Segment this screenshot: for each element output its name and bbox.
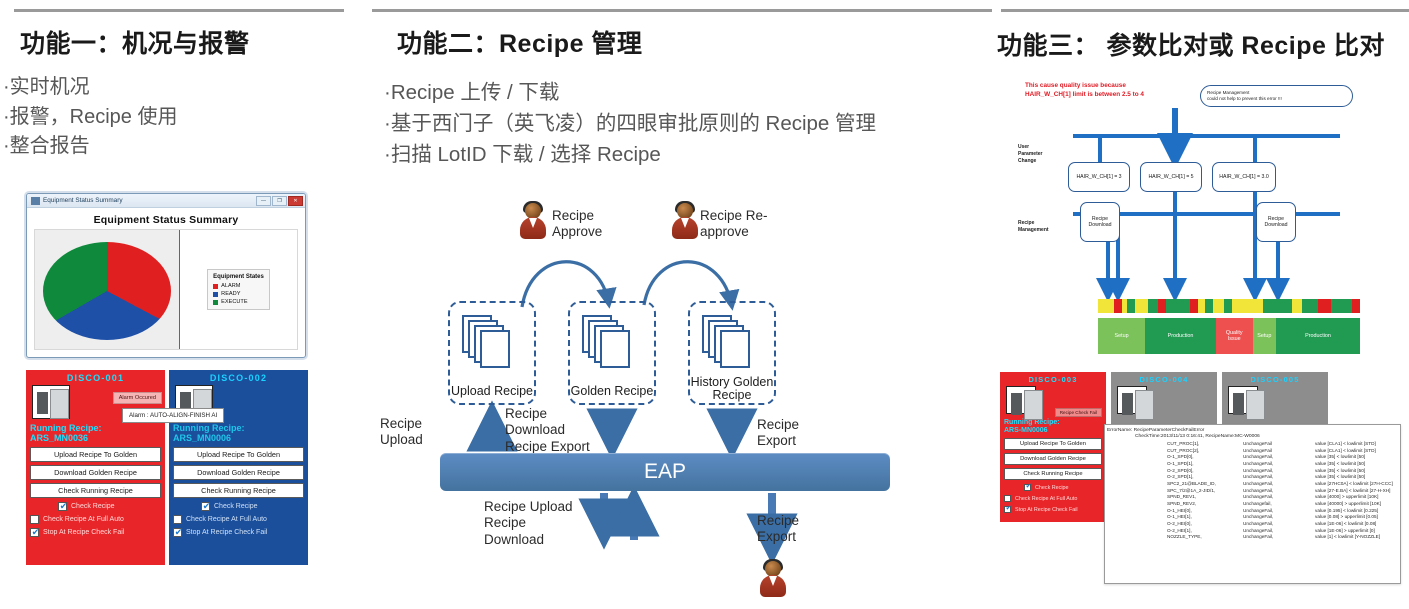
equipment-name: DISCO-005 [1226, 375, 1324, 384]
actor-label-recipe-approve: Recipe Approve [552, 208, 602, 240]
error-cell: UnchangeFail, [1243, 521, 1315, 528]
timeline-strip-segment [1331, 299, 1352, 313]
check-running-recipe-button[interactable]: Check Running Recipe [1004, 468, 1102, 480]
status-badge: Recipe Check Fail [1055, 408, 1102, 417]
legend-swatch-alarm [213, 284, 218, 289]
checkbox-input[interactable] [173, 528, 182, 537]
chart-title: Equipment Status Summary [34, 214, 298, 226]
diagram-arrows-svg [1000, 78, 1409, 358]
equipment-name: DISCO-003 [1004, 375, 1102, 384]
error-row: O-2_SPD[0],UnchangeFail,value [35] < low… [1167, 468, 1400, 475]
close-button[interactable]: ✕ [288, 196, 303, 206]
equipment-photo-icon [1006, 386, 1036, 414]
error-row: SPND_REV2,Unchangefail,value [40000] > u… [1167, 501, 1400, 508]
column-function-3: 功能三： 参数比对或 Recipe 比对 This cause quality … [992, 0, 1409, 609]
checkbox-stop-at-recipe-check-fail[interactable]: Stop At Recipe Check Fail [30, 528, 161, 537]
error-cell: UnchangeFail, [1243, 494, 1315, 501]
error-cell: UnchangeFail, [1243, 461, 1315, 468]
timeline-strip-segment [1263, 299, 1292, 313]
document-stack-icon [582, 315, 638, 371]
error-cell: Unchangefail, [1243, 501, 1315, 508]
timeline-phase-segment: Production [1145, 318, 1216, 354]
bullet-item: ·Recipe 上传 / 下载 [384, 77, 992, 108]
timeline-strip-segment [1158, 299, 1166, 313]
maximize-button[interactable]: ❐ [272, 196, 287, 206]
error-cell: CUT_PROC[1], [1167, 441, 1243, 448]
checkbox-label: Check Recipe [1035, 485, 1069, 491]
page-title-2: 功能二：Recipe 管理 [397, 24, 992, 60]
equipment-panel-disco-001[interactable]: DISCO-001 Alarm Occured Running Recipe: … [26, 370, 165, 565]
error-row: SPC2_21@BLADE_ID,UnchangeFail,value [27H… [1167, 481, 1400, 488]
timeline-strip-segment [1166, 299, 1190, 313]
bullet-item: ·基于西门子（英飞凌）的四眼审批原则的 Recipe 管理 [384, 108, 992, 139]
equipment-photo-icon [32, 385, 70, 419]
error-cell: value [40000] > upperlimit [10K] [1315, 501, 1400, 508]
error-row-list: CUT_PROC[1],UnchangeFailvalue [CLA1] < l… [1105, 441, 1400, 541]
error-cell: value [35] < lowlimit [50] [1315, 461, 1400, 468]
checkbox-label: Check Recipe [71, 503, 115, 510]
checkbox-check-recipe[interactable]: Check Recipe [30, 502, 161, 511]
download-golden-recipe-button[interactable]: Download Golden Recipe [1004, 453, 1102, 465]
recipe-check-error-dialog[interactable]: ErrorName: RecipeParameterCheckFailError… [1104, 424, 1401, 584]
actor-avatar-recipe-export [760, 561, 786, 597]
slide-root: 功能一：机况与报警 ·实时机况 ·报警，Recipe 使用 ·整合报告 Equi… [0, 0, 1409, 609]
upload-recipe-to-golden-button[interactable]: Upload Recipe To Golden [30, 447, 161, 462]
timeline-strip-segment [1292, 299, 1302, 313]
column-function-2: 功能二：Recipe 管理 ·Recipe 上传 / 下载 ·基于西门子（英飞凌… [372, 0, 992, 609]
timeline-strip-segment [1302, 299, 1318, 313]
error-cell: value [CLA1] < lowlimit [STD] [1315, 441, 1400, 448]
error-cell: SPC2_21@BLADE_ID, [1167, 481, 1243, 488]
timeline-strip-segment [1190, 299, 1198, 313]
document-stack-icon [702, 315, 758, 371]
error-cell: value [1E-06] < lowlimit [0.08] [1315, 521, 1400, 528]
error-cell: value [0.08] > upperlimit [0.05] [1315, 514, 1400, 521]
checkbox-label: Stop At Recipe Check Fail [186, 529, 267, 536]
error-cell: value [27-E.BA] < lowlimit [27-H-XH] [1315, 488, 1400, 495]
timeline-strip-segment [1232, 299, 1263, 313]
equipment-panel-disco-003[interactable]: DISCO-003 Recipe Check Fail Running Reci… [1000, 372, 1106, 522]
lane-label-recipe-management: Recipe Management [1018, 220, 1049, 234]
timeline-phase-segment: Quality Issue [1216, 318, 1253, 354]
param-box-1: HAIR_W_CH[1] = 3 [1068, 162, 1130, 192]
timeline-strip-segment [1127, 299, 1135, 313]
error-row: CUT_PROC[1],UnchangeFailvalue [CLA1] < l… [1167, 441, 1400, 448]
error-checktime: CheckTime:2013/11/13 0:16:41, RecipeName… [1105, 433, 1400, 441]
legend-label: READY [221, 291, 240, 297]
alarm-tooltip: Alarm : AUTO-ALIGN-FINISH AI [122, 408, 224, 423]
legend-title: Equipment States [213, 274, 264, 280]
error-name: ErrorName: RecipeParameterCheckFailError [1105, 425, 1400, 433]
error-row: NOZZLE_TYPE,UnchangeFail,value [1] < low… [1167, 534, 1400, 541]
window-app-icon [31, 197, 40, 205]
download-golden-recipe-button[interactable]: Download Golden Recipe [173, 465, 304, 480]
checkbox-stop-at-recipe-check-fail[interactable]: Stop At Recipe Check Fail [1004, 506, 1102, 513]
error-cell: UnchangeFail, [1243, 474, 1315, 481]
divider-rule-3 [1001, 9, 1409, 12]
document-stack-icon [462, 315, 518, 371]
error-cell: value [1E-06] > upperlimit [0] [1315, 528, 1400, 535]
error-row: O-1_HEI[1],UnchangeFail,value [0.08] > u… [1167, 514, 1400, 521]
error-cell: SPND_REV1, [1167, 494, 1243, 501]
checkbox-input[interactable] [30, 528, 39, 537]
running-recipe-value: ARS-MN0006 [1004, 427, 1102, 435]
divider-rule-1 [14, 9, 344, 12]
error-cell: O-1_HEI[0], [1167, 508, 1243, 515]
error-cell: CUT_PROC[2], [1167, 448, 1243, 455]
bucket-label: History Golden Recipe [690, 376, 774, 404]
error-cell: value [1] < lowlimit [Y-NOZZLE] [1315, 534, 1400, 541]
parameter-change-diagram: This cause quality issue because HAIR_W_… [1000, 78, 1409, 358]
checkbox-label: Check Recipe At Full Auto [43, 516, 124, 523]
label-recipe-upload-download: Recipe Upload Recipe Download [484, 499, 573, 548]
error-cell: value [27HC0A] < lowlimit [27H-CCC] [1315, 481, 1400, 488]
page-title-1: 功能一：机况与报警 [20, 24, 368, 60]
legend-swatch-execute [213, 300, 218, 305]
page-title-3: 功能三： 参数比对或 Recipe 比对 [997, 26, 1409, 62]
timeline-phases: SetupProductionQuality IssueSetupProduct… [1098, 318, 1360, 354]
checkbox-check-recipe[interactable]: Check Recipe [1004, 484, 1102, 491]
window-title: Equipment Status Summary [43, 197, 256, 204]
bucket-label: Golden Recipe [570, 385, 654, 399]
param-box-2: HAIR_W_CH[1] = 5 [1140, 162, 1202, 192]
error-cell: O-1_SPD[0], [1167, 454, 1243, 461]
checkbox-input[interactable] [1004, 506, 1011, 513]
checkbox-check-recipe-at-full-auto[interactable]: Check Recipe At Full Auto [1004, 495, 1102, 502]
error-cell: SPND_REV2, [1167, 501, 1243, 508]
running-recipe-label: Running Recipe: [1004, 419, 1102, 427]
equipment-name: DISCO-001 [30, 373, 161, 383]
error-cell: UnchangeFail, [1243, 468, 1315, 475]
error-cell: UnchangeFail [1243, 448, 1315, 455]
error-row: CUT_PROC[2],UnchangeFailvalue [CLA1] < l… [1167, 448, 1400, 455]
bullet-list-1: ·实时机况 ·报警，Recipe 使用 ·整合报告 [3, 73, 368, 162]
error-cell: value [35] < lowlimit [50] [1315, 454, 1400, 461]
upload-recipe-to-golden-button[interactable]: Upload Recipe To Golden [173, 447, 304, 462]
equipment-status-window: Equipment Status Summary — ❐ ✕ Equipment… [26, 193, 306, 358]
checkbox-label: Check Recipe [214, 503, 258, 510]
check-running-recipe-button[interactable]: Check Running Recipe [30, 483, 161, 498]
error-cell: O-1_SPD[1], [1167, 461, 1243, 468]
timeline-strip-segment [1198, 299, 1206, 313]
checkbox-check-recipe[interactable]: Check Recipe [173, 502, 304, 511]
recipe-download-box-1: Recipe Download [1080, 202, 1120, 242]
status-badge: Alarm Occured [113, 392, 162, 404]
error-cell: NOZZLE_TYPE, [1167, 534, 1243, 541]
bullet-list-2: ·Recipe 上传 / 下载 ·基于西门子（英飞凌）的四眼审批原则的 Reci… [384, 77, 992, 170]
legend-swatch-ready [213, 292, 218, 297]
timeline-phase-segment: Setup [1253, 318, 1277, 354]
checkbox-input[interactable] [30, 515, 39, 524]
timeline-strip-segment [1224, 299, 1232, 313]
running-recipe-value: ARS_MN0036 [30, 434, 161, 444]
error-cell: O-2_SPD[0], [1167, 468, 1243, 475]
check-running-recipe-button[interactable]: Check Running Recipe [173, 483, 304, 498]
checkbox-label: Stop At Recipe Check Fail [43, 529, 124, 536]
checkbox-check-recipe-at-full-auto[interactable]: Check Recipe At Full Auto [173, 515, 304, 524]
equipment-name: DISCO-002 [173, 373, 304, 383]
bullet-item: ·整合报告 [3, 132, 368, 162]
error-cell: UnchangeFail, [1243, 481, 1315, 488]
label-recipe-export-top: Recipe Export [757, 417, 799, 450]
bucket-upload-recipe[interactable]: Upload Recipe [448, 301, 536, 405]
timeline-strip-segment [1114, 299, 1122, 313]
error-row: SPND_REV1,UnchangeFail,value [4000] > up… [1167, 494, 1400, 501]
eap-node[interactable]: EAP [440, 453, 890, 491]
error-row: O-2_HEI[1],UnchangeFail,value [1E-06] > … [1167, 528, 1400, 535]
timeline-strip-segment [1352, 299, 1360, 313]
bucket-history-golden-recipe[interactable]: History Golden Recipe [688, 301, 776, 405]
equipment-photo-icon [1228, 386, 1258, 414]
equipment-name: DISCO-004 [1115, 375, 1213, 384]
error-row: O-2_SPD[1],UnchangeFail,value [35] < low… [1167, 474, 1400, 481]
checkbox-input[interactable] [173, 515, 182, 524]
equipment-panel-disco-002[interactable]: DISCO-002 Running Recipe: ARS_MN0006 Upl… [169, 370, 308, 565]
divider-rule-2 [372, 9, 992, 12]
timeline-strip [1098, 299, 1360, 313]
error-cell: value [35] < lowlimit [50] [1315, 474, 1400, 481]
label-recipe-export-bottom: Recipe Export [757, 513, 799, 546]
minimize-button[interactable]: — [256, 196, 271, 206]
equipment-photo-icon [1117, 386, 1147, 414]
checkbox-label: Check Recipe At Full Auto [1015, 496, 1077, 502]
param-box-3: HAIR_W_CH[1] = 3.0 [1212, 162, 1276, 192]
timeline-strip-segment [1098, 299, 1114, 313]
timeline-phase-segment: Setup [1098, 318, 1145, 354]
legend-label: ALARM [221, 283, 240, 289]
error-cell: UnchangeFail, [1243, 514, 1315, 521]
error-cell: value [CLA1] < lowlimit [STD] [1315, 448, 1400, 455]
recipe-download-box-2: Recipe Download [1256, 202, 1296, 242]
legend-label: EXECUTE [221, 299, 247, 305]
bucket-label: Upload Recipe [450, 385, 534, 399]
download-golden-recipe-button[interactable]: Download Golden Recipe [30, 465, 161, 480]
column-function-1: 功能一：机况与报警 ·实时机况 ·报警，Recipe 使用 ·整合报告 Equi… [0, 0, 368, 609]
timeline-phase-segment: Production [1276, 318, 1360, 354]
checkbox-input[interactable] [1004, 495, 1011, 502]
checkbox-input[interactable] [201, 502, 210, 511]
label-recipe-upload: Recipe Upload [380, 416, 423, 449]
error-cell: UnchangeFail, [1243, 508, 1315, 515]
running-recipe-value: ARS_MN0006 [173, 434, 304, 444]
actor-label-recipe-reapprove: Recipe Re- approve [700, 208, 768, 240]
chart-legend: Equipment States ALARM READY [207, 269, 270, 310]
error-cell: O-1_HEI[1], [1167, 514, 1243, 521]
error-cell: value [35] < lowlimit [50] [1315, 468, 1400, 475]
legend-item: ALARM [213, 283, 264, 289]
timeline-strip-segment [1318, 299, 1331, 313]
error-cell: UnchangeFail [1243, 441, 1315, 448]
error-cell: UnchangeFail, [1243, 454, 1315, 461]
error-cell: UnchangeFail, [1243, 534, 1315, 541]
error-row: O-2_HEI[0],UnchangeFail,value [1E-06] < … [1167, 521, 1400, 528]
error-cell: value [0.195] < lowlimit [0.225] [1315, 508, 1400, 515]
legend-item: READY [213, 291, 264, 297]
label-recipe-download-export: Recipe Download Recipe Export [505, 406, 590, 455]
checkbox-label: Stop At Recipe Check Fail [1015, 507, 1078, 513]
timeline-strip-segment [1205, 299, 1213, 313]
bullet-item: ·扫描 LotID 下载 / 选择 Recipe [384, 139, 992, 170]
error-cell: O-2_HEI[0], [1167, 521, 1243, 528]
timeline-strip-segment [1148, 299, 1158, 313]
equipment-panels-col1: DISCO-001 Alarm Occured Running Recipe: … [26, 370, 308, 565]
error-row: SPC_7/2@1A_2-JID/1,UnchangeFail,value [2… [1167, 488, 1400, 495]
timeline-strip-segment [1135, 299, 1148, 313]
upload-recipe-to-golden-button[interactable]: Upload Recipe To Golden [1004, 438, 1102, 450]
lane-label-user-parameter-change: User Parameter Change [1018, 144, 1042, 164]
error-row: O-1_SPD[1],UnchangeFail,value [35] < low… [1167, 461, 1400, 468]
legend-item: EXECUTE [213, 299, 264, 305]
checkbox-check-recipe-at-full-auto[interactable]: Check Recipe At Full Auto [30, 515, 161, 524]
error-cell: UnchangeFail, [1243, 488, 1315, 495]
error-cell: SPC_7/2@1A_2-JID/1, [1167, 488, 1243, 495]
checkbox-label: Check Recipe At Full Auto [186, 516, 267, 523]
actor-avatar-recipe-approve [520, 203, 546, 239]
error-cell: value [4000] > upperlimit [10K] [1315, 494, 1400, 501]
pie-chart: Equipment States ALARM READY [34, 229, 298, 350]
checkbox-input[interactable] [58, 502, 67, 511]
error-row: O-1_HEI[0],UnchangeFail,value [0.195] < … [1167, 508, 1400, 515]
error-cell: UnchangeFail, [1243, 528, 1315, 535]
error-cell: O-2_SPD[1], [1167, 474, 1243, 481]
bullet-item: ·报警，Recipe 使用 [3, 103, 368, 133]
timeline-strip-segment [1213, 299, 1223, 313]
bullet-item: ·实时机况 [3, 73, 368, 103]
window-titlebar: Equipment Status Summary — ❐ ✕ [27, 194, 305, 208]
error-cell: O-2_HEI[1], [1167, 528, 1243, 535]
pie-graphic [43, 242, 171, 340]
bucket-golden-recipe[interactable]: Golden Recipe [568, 301, 656, 405]
checkbox-input[interactable] [1024, 484, 1031, 491]
recipe-flow-diagram: Recipe Approve Recipe Re- approve Upload… [372, 195, 992, 609]
actor-avatar-recipe-reapprove [672, 203, 698, 239]
checkbox-stop-at-recipe-check-fail[interactable]: Stop At Recipe Check Fail [173, 528, 304, 537]
error-row: O-1_SPD[0],UnchangeFail,value [35] < low… [1167, 454, 1400, 461]
